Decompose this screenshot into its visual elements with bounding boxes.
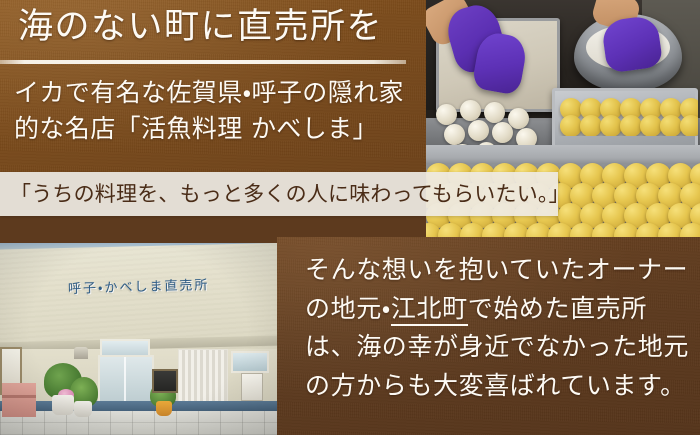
body-line-4: の方からも大変喜ばれています。 (305, 367, 690, 406)
town-name-emphasis: 江北町 (391, 294, 468, 326)
header-panel: 海のない町に直売所を イカで有名な佐賀県・呼子の隠れ家 的な名店「活魚料理 かべ… (0, 0, 426, 172)
body-line-1: そんな想いを抱いていたオーナー (305, 251, 690, 290)
storefront-photo: 呼子・かべしま直売所 (0, 243, 277, 435)
photo-vignette (0, 243, 277, 435)
promotional-poster: 海のない町に直売所を イカで有名な佐賀県・呼子の隠れ家 的な名店「活魚料理 かべ… (0, 0, 700, 435)
body-text-panel: そんな想いを抱いていたオーナー の地元・江北町で始めた直売所 は、海の幸が身近で… (277, 237, 700, 435)
body-line-2: の地元・江北町で始めた直売所 (305, 290, 690, 329)
subtitle-line-2: 的な名店「活魚料理 かべしま」 (14, 111, 414, 147)
subtitle-block: イカで有名な佐賀県・呼子の隠れ家 的な名店「活魚料理 かべしま」 (14, 75, 414, 147)
title-divider (0, 60, 406, 64)
body-text-block: そんな想いを抱いていたオーナー の地元・江北町で始めた直売所 は、海の幸が身近で… (277, 237, 700, 405)
body-line-3: は、海の幸が身近でなかった地元 (305, 328, 690, 367)
subtitle-line-1: イカで有名な佐賀県・呼子の隠れ家 (14, 75, 414, 111)
quote-banner: 「うちの料理を、もっと多くの人に味わってもらいたい。」 (0, 172, 558, 216)
body-line-2-suffix: で始めた直売所 (468, 294, 647, 323)
page-title: 海のない町に直売所を (18, 6, 383, 49)
body-line-2-prefix: の地元・ (305, 294, 391, 323)
fried-balls-tray-row (558, 96, 698, 136)
quote-text: 「うちの料理を、もっと多くの人に味わってもらいたい。」 (0, 184, 570, 205)
